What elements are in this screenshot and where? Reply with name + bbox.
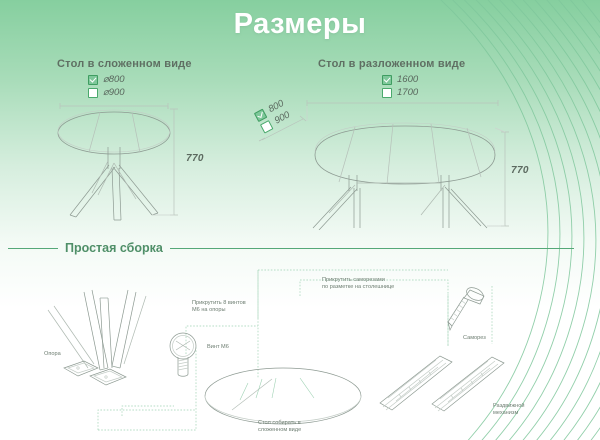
note-attach-bolts: Прикрутить 8 винтов M6 на опоры <box>192 300 246 315</box>
option-row[interactable]: 1600 <box>382 73 418 86</box>
label-screw: Саморез <box>463 335 486 342</box>
note-attach-screws: Прикрутить саморезами по разметке на сто… <box>322 277 394 292</box>
label-support: Опора <box>44 351 61 358</box>
option-label: ⌀800 <box>103 73 125 86</box>
option-label: 1600 <box>397 73 418 86</box>
option-row[interactable]: ⌀800 <box>88 73 125 86</box>
folded-height-dimension: 770 <box>186 153 204 164</box>
page-title: Размеры <box>0 8 600 41</box>
assembly-heading: Простая сборка <box>65 241 163 255</box>
section-heading-folded: Стол в сложенном виде <box>57 58 192 70</box>
assembly-section-divider: Простая сборка <box>8 238 574 258</box>
unfolded-height-dimension: 770 <box>511 165 529 176</box>
section-heading-unfolded: Стол в разложенном виде <box>318 58 465 70</box>
checkbox-length-1600[interactable] <box>382 75 392 85</box>
note-assemble-folded: Стол собирать в сложенном виде <box>258 420 301 435</box>
label-bolt-m6: Винт M6 <box>207 344 229 351</box>
label-slide-mechanism: Раздвижной механизм <box>493 403 524 418</box>
unfolded-table-drawing <box>255 95 545 230</box>
divider-line-left <box>8 248 58 249</box>
divider-line-right <box>170 248 574 249</box>
infographic-page: Размеры Стол в сложенном виде ⌀800 ⌀900 <box>0 0 600 440</box>
checkbox-diameter-800[interactable] <box>88 75 98 85</box>
